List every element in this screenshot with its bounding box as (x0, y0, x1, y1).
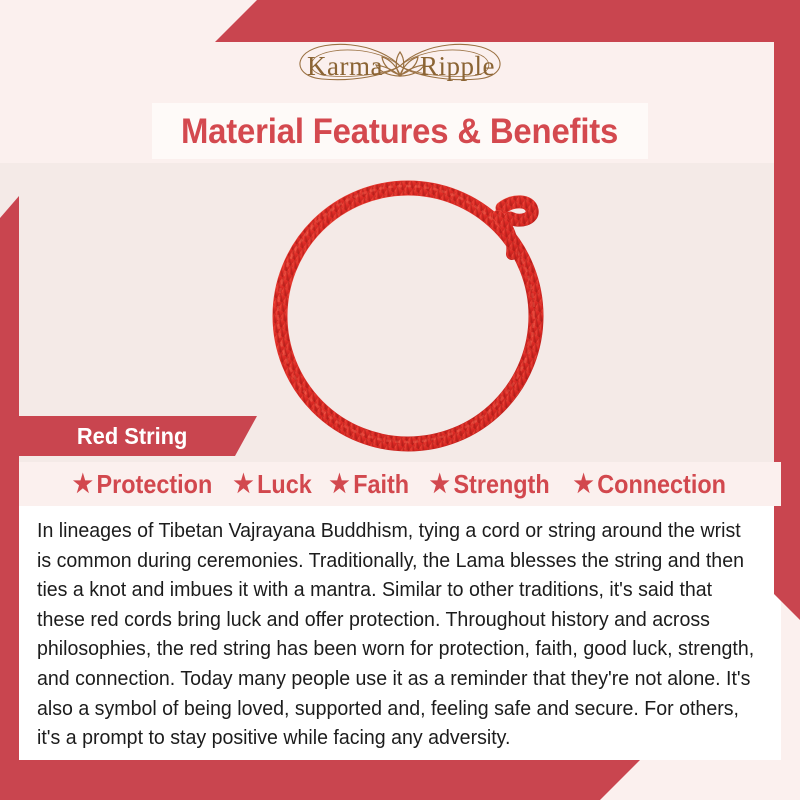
page-title: Material Features & Benefits (181, 114, 618, 149)
star-icon: ★ (330, 472, 350, 497)
infographic-page: Karma Ripple Material Features & Benefit… (0, 0, 800, 800)
feature-label: Faith (354, 469, 410, 500)
bracelet-knot (498, 202, 532, 254)
description-text: In lineages of Tibetan Vajrayana Buddhis… (37, 516, 758, 753)
feature-item-faith: ★ Faith (330, 469, 410, 500)
star-icon: ★ (430, 472, 450, 497)
material-label-banner: Red String (19, 416, 257, 456)
brand-name-left: Karma (307, 51, 383, 81)
material-label-text: Red String (77, 423, 187, 450)
brand-logo-mark: Karma Ripple (250, 35, 550, 97)
feature-list: ★ Protection ★ Luck ★ Faith ★ Strength ★… (19, 462, 781, 506)
feature-item-protection: ★ Protection (73, 469, 213, 500)
feature-label: Protection (97, 469, 213, 500)
feature-item-connection: ★ Connection (574, 469, 726, 500)
feature-label: Connection (598, 469, 727, 500)
lotus-flower-icon (376, 52, 424, 76)
feature-label: Strength (453, 469, 549, 500)
description-card: In lineages of Tibetan Vajrayana Buddhis… (19, 506, 781, 760)
star-icon: ★ (574, 472, 594, 497)
star-icon: ★ (234, 472, 254, 497)
page-title-band: Material Features & Benefits (152, 103, 648, 159)
feature-item-luck: ★ Luck (234, 469, 312, 500)
brand-name-right: Ripple (420, 51, 495, 81)
feature-label: Luck (257, 469, 312, 500)
feature-item-strength: ★ Strength (430, 469, 550, 500)
decorative-band-left (0, 196, 19, 800)
decorative-band-bottom (0, 760, 640, 800)
product-image-bracelet (258, 166, 588, 466)
star-icon: ★ (73, 472, 93, 497)
brand-logo: Karma Ripple (0, 36, 800, 96)
